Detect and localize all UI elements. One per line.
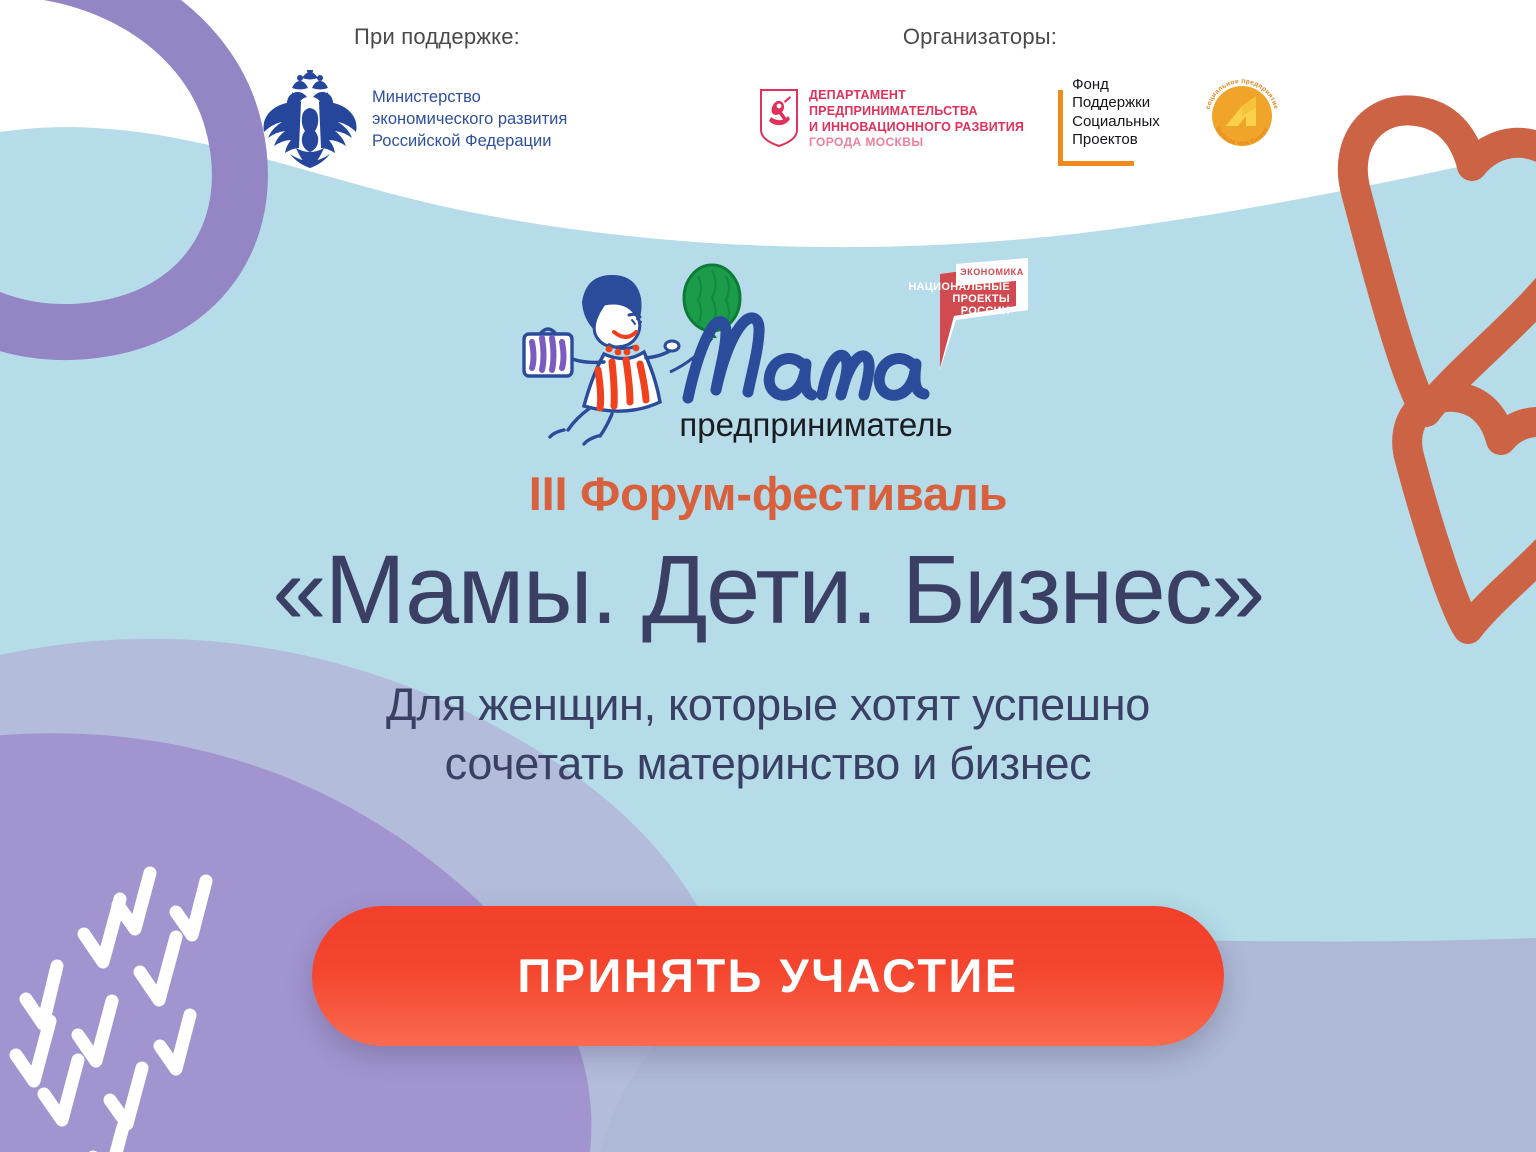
ministry-logo: Министерство экономического развития Рос… <box>262 70 567 170</box>
natproject-line-3: РОССИИ <box>961 305 1010 317</box>
russian-double-headed-eagle-icon <box>262 70 358 170</box>
page-title: «Мамы. Дети. Бизнес» <box>0 539 1536 641</box>
social-enterprise-badge: социальное предприятие больше чем бизнес <box>1196 70 1288 167</box>
ministry-text: Министерство экономического развития Рос… <box>372 87 567 153</box>
department-logo: ДЕПАРТАМЕНТ ПРЕДПРИНИМАТЕЛЬСТВА И ИННОВА… <box>760 87 1024 150</box>
cta-container: ПРИНЯТЬ УЧАСТИЕ <box>0 906 1536 1046</box>
natproject-line-1: НАЦИОНАЛЬНЫЕ <box>908 281 1010 293</box>
department-line-3: И ИННОВАЦИОННОГО РАЗВИТИЯ <box>809 119 1024 135</box>
natproject-badge-icon: ЭКОНОМИКА НАЦИОНАЛЬНЫЕ ПРОЕКТЫ РОССИИ <box>908 258 1028 370</box>
organizer-logos-row: ДЕПАРТАМЕНТ ПРЕДПРИНИМАТЕЛЬСТВА И ИННОВА… <box>760 70 1320 167</box>
fund-logo: Фонд Поддержки Социальных Проектов <box>1058 76 1160 161</box>
organizers-section: Организаторы: ДЕПАРТАМЕНТ <box>760 24 1320 167</box>
department-line-2: ПРЕДПРИНИМАТЕЛЬСТВА <box>809 103 1024 119</box>
eyebrow-text: III Форум-фестиваль <box>0 470 1536 517</box>
natproject-line-2: ПРОЕКТЫ <box>952 293 1010 305</box>
fund-line-2: Поддержки <box>1072 94 1160 112</box>
moscow-coat-of-arms-icon <box>760 89 798 147</box>
department-line-1: ДЕПАРТАМЕНТ <box>809 87 1024 103</box>
fund-line-3: Социальных <box>1072 113 1160 131</box>
fund-text: Фонд Поддержки Социальных Проектов <box>1072 76 1160 149</box>
department-line-4: ГОРОДА МОСКВЫ <box>809 135 1024 150</box>
social-enterprise-circle-icon: социальное предприятие больше чем бизнес <box>1196 70 1288 162</box>
natproject-top: ЭКОНОМИКА <box>960 267 1024 277</box>
department-text: ДЕПАРТАМЕНТ ПРЕДПРИНИМАТЕЛЬСТВА И ИННОВА… <box>809 87 1024 150</box>
fund-line-4: Проектов <box>1072 131 1160 149</box>
brand-subword: предприниматель <box>679 406 952 443</box>
banner-root: При поддержке: <box>0 0 1536 1152</box>
mama-entrepreneur-logo: предприниматель ЭКОНОМИКА НАЦИОНАЛЬНЫЕ П… <box>516 258 1036 453</box>
fund-line-1: Фонд <box>1072 76 1160 94</box>
header: При поддержке: <box>0 0 1536 200</box>
subtitle-line-2: сочетать материнство и бизнес <box>0 734 1536 793</box>
main-content: III Форум-фестиваль «Мамы. Дети. Бизнес»… <box>0 470 1536 794</box>
brand-script-word <box>688 318 924 398</box>
subtitle-line-1: Для женщин, которые хотят успешно <box>0 675 1536 734</box>
briefcase-icon <box>524 329 572 376</box>
organizers-label: Организаторы: <box>640 24 1320 50</box>
mama-entrepreneur-logo-icon: предприниматель ЭКОНОМИКА НАЦИОНАЛЬНЫЕ П… <box>516 258 1036 453</box>
ministry-line-1: Министерство <box>372 87 567 109</box>
ministry-line-3: Российской Федерации <box>372 131 567 153</box>
ministry-line-2: экономического развития <box>372 109 567 131</box>
ministry-logo-row: Министерство экономического развития Рос… <box>262 70 742 170</box>
participate-button[interactable]: ПРИНЯТЬ УЧАСТИЕ <box>312 906 1224 1046</box>
subtitle-text: Для женщин, которые хотят успешно сочета… <box>0 675 1536 794</box>
woman-illustration-icon <box>524 275 679 444</box>
